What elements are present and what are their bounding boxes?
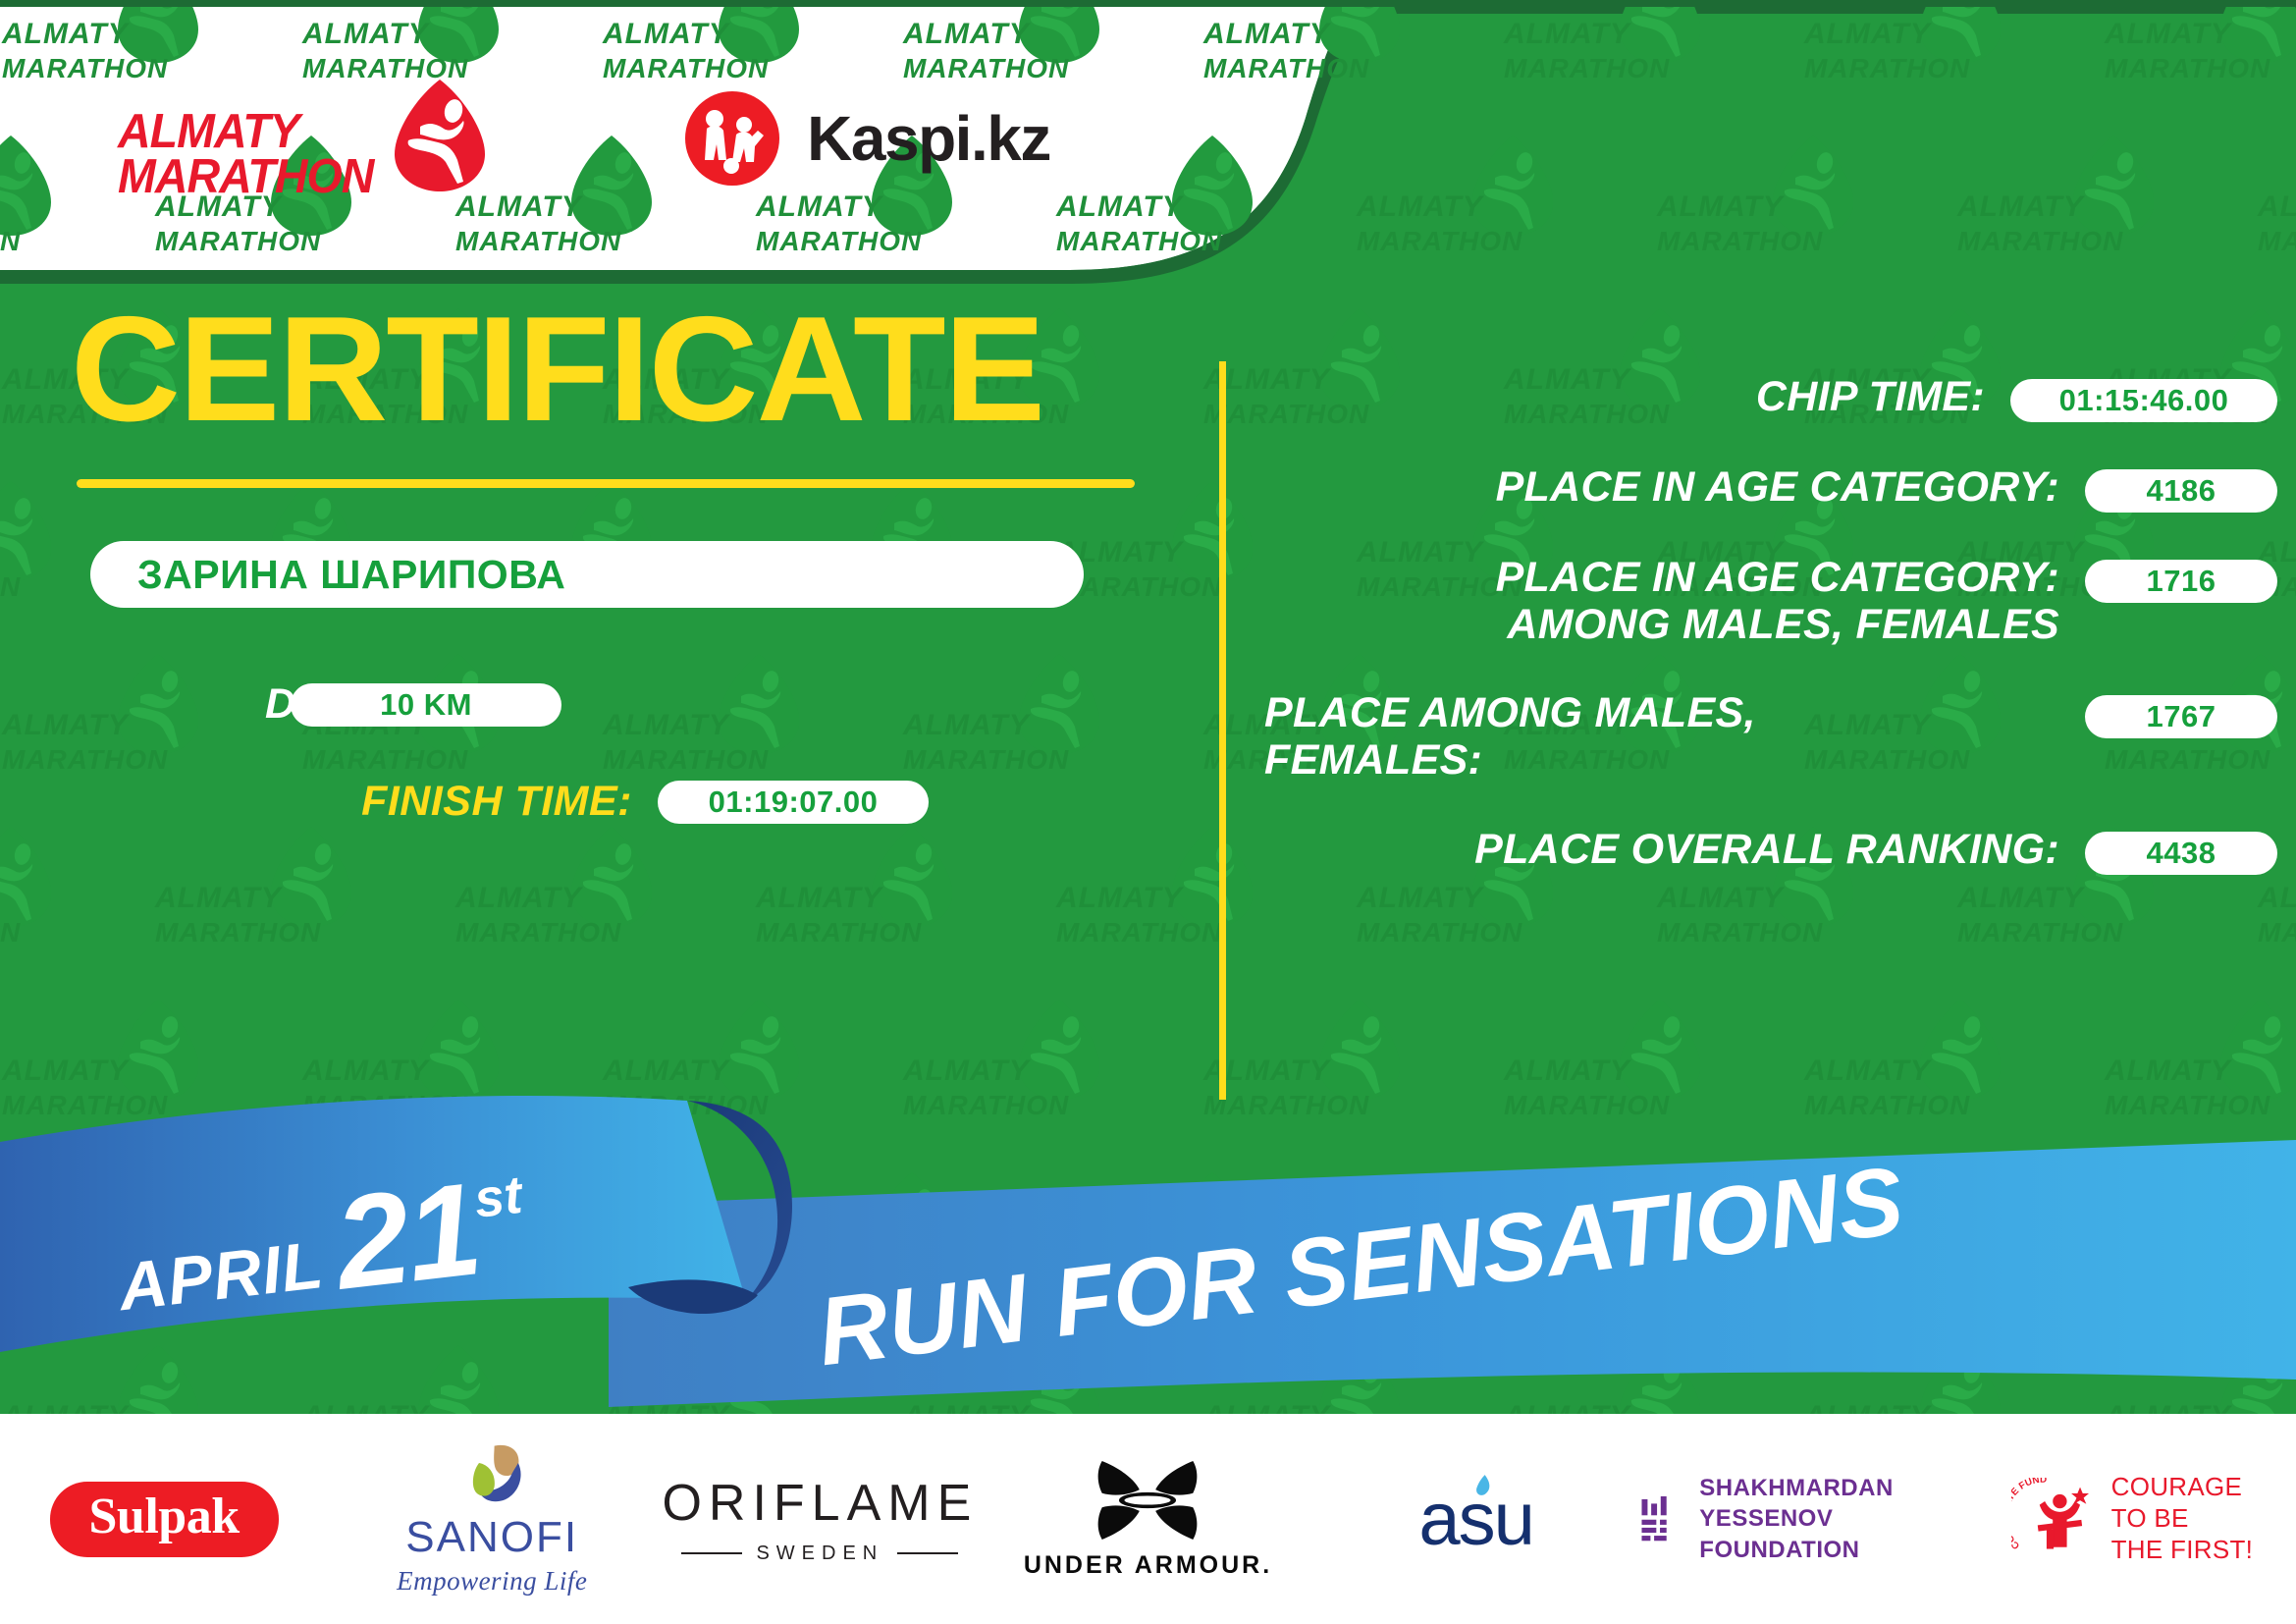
yessenov-line1: SHAKHMARDAN YESSENOV bbox=[1699, 1473, 1968, 1534]
sulpak-logo: Sulpak bbox=[50, 1482, 279, 1557]
running-person-drop-icon bbox=[393, 78, 487, 193]
asu-logo: asu bbox=[1418, 1477, 1533, 1562]
under-armour-wordmark: UNDER ARMOUR. bbox=[1024, 1551, 1272, 1580]
oriflame-rule-left bbox=[681, 1552, 742, 1554]
header: ALMATY MARATHON bbox=[0, 7, 1276, 270]
result-value: 1716 bbox=[2147, 564, 2216, 599]
almaty-marathon-line2: MARATHON bbox=[118, 154, 373, 199]
result-row: PLACE IN AGE CATEGORY:4186 bbox=[1256, 463, 2277, 513]
title-divider bbox=[77, 479, 1135, 488]
result-label-line: AMONG MALES, FEMALES bbox=[1256, 601, 2059, 648]
sponsor-sulpak: Sulpak bbox=[0, 1414, 328, 1624]
sponsor-strip: Sulpak SANOFI Empowering Life ORIFLAME S… bbox=[0, 1414, 2296, 1624]
result-label-line: FEMALES: bbox=[1264, 736, 2059, 784]
result-label: PLACE OVERALL RANKING: bbox=[1256, 826, 2085, 873]
finish-time-value-pill: 01:19:07.00 bbox=[658, 781, 929, 824]
courage-arc-text: CORPORATE FUND bbox=[2011, 1478, 2047, 1551]
result-label-line: CHIP TIME: bbox=[1256, 373, 1985, 420]
sanofi-logo: SANOFI Empowering Life bbox=[397, 1442, 587, 1597]
result-label: PLACE AMONG MALES,FEMALES: bbox=[1256, 689, 2085, 784]
result-value: 4438 bbox=[2147, 836, 2216, 871]
result-value-pill: 01:15:46.00 bbox=[2010, 379, 2277, 422]
yessenov-bars-icon bbox=[1640, 1490, 1679, 1547]
certificate-canvas: ALMATYMARATHONALMATYMARATHONALMATYMARATH… bbox=[0, 0, 2296, 1624]
result-label: PLACE IN AGE CATEGORY: bbox=[1256, 463, 2085, 511]
finish-time-row: FINISH TIME: 01:19:07.00 bbox=[265, 778, 1158, 826]
asu-droplet-icon bbox=[1473, 1473, 1493, 1498]
oriflame-rule-right bbox=[897, 1552, 958, 1554]
result-value: 4186 bbox=[2147, 473, 2216, 509]
courage-line2: TO BE bbox=[2111, 1503, 2254, 1535]
kaspi-wordmark: Kaspi.kz bbox=[807, 102, 1050, 175]
event-month: APRIL bbox=[115, 1226, 327, 1326]
almaty-marathon-line1: ALMATY bbox=[118, 109, 373, 154]
sponsor-courage-to-be-the-first: CORPORATE FUND COURAGE TO BE THE FIRST! bbox=[1968, 1414, 2296, 1624]
distance-value-pill: 10 KM bbox=[291, 683, 561, 727]
event-day: 21 bbox=[329, 1164, 485, 1311]
finish-time-value: 01:19:07.00 bbox=[709, 785, 879, 820]
courage-fund-logo: CORPORATE FUND COURAGE TO BE THE FIRST! bbox=[2011, 1472, 2254, 1565]
result-label-line: PLACE IN AGE CATEGORY: bbox=[1256, 554, 2059, 601]
vertical-yellow-divider bbox=[1219, 361, 1226, 1100]
svg-text:CORPORATE FUND: CORPORATE FUND bbox=[2011, 1478, 2047, 1551]
sanofi-mark-icon bbox=[454, 1442, 530, 1509]
result-row: PLACE OVERALL RANKING:4438 bbox=[1256, 826, 2277, 875]
results-column: CHIP TIME:01:15:46.00PLACE IN AGE CATEGO… bbox=[1256, 373, 2277, 916]
page-title: CERTIFICATE bbox=[71, 295, 1180, 444]
result-row: CHIP TIME:01:15:46.00 bbox=[1256, 373, 2277, 422]
under-armour-logo: UNDER ARMOUR. bbox=[1024, 1459, 1272, 1580]
sanofi-wordmark: SANOFI bbox=[405, 1513, 578, 1562]
participant-name-field: ЗАРИНА ШАРИПОВА bbox=[90, 541, 1084, 608]
sponsor-oriflame: ORIFLAME SWEDEN bbox=[656, 1414, 984, 1624]
sponsor-shakhmardan-yessenov-foundation: SHAKHMARDAN YESSENOV FOUNDATION bbox=[1640, 1414, 1968, 1624]
shakhmardan-yessenov-logo: SHAKHMARDAN YESSENOV FOUNDATION bbox=[1640, 1473, 1968, 1565]
oriflame-logo: ORIFLAME SWEDEN bbox=[662, 1474, 978, 1565]
kaspi-people-circle-icon bbox=[683, 89, 781, 188]
courage-child-star-icon: CORPORATE FUND bbox=[2011, 1478, 2098, 1560]
kaspi-logo: Kaspi.kz bbox=[683, 89, 1050, 188]
sanofi-tagline: Empowering Life bbox=[397, 1566, 587, 1597]
result-value: 01:15:46.00 bbox=[2059, 383, 2229, 418]
result-value-pill: 1716 bbox=[2085, 560, 2277, 603]
result-label: PLACE IN AGE CATEGORY:AMONG MALES, FEMAL… bbox=[1256, 554, 2085, 648]
under-armour-mark-icon bbox=[1090, 1459, 1205, 1542]
distance-row: DISTANCE: 10 KM bbox=[265, 680, 1158, 729]
result-value-pill: 1767 bbox=[2085, 695, 2277, 738]
result-label-line: PLACE OVERALL RANKING: bbox=[1256, 826, 2059, 873]
event-day-ordinal: st bbox=[471, 1164, 525, 1230]
top-green-rule bbox=[0, 0, 2296, 7]
distance-value: 10 KM bbox=[380, 687, 472, 723]
left-column: CERTIFICATE ЗАРИНА ШАРИПОВА DISTANCE: 10… bbox=[0, 295, 1158, 826]
finish-time-label: FINISH TIME: bbox=[265, 778, 632, 826]
result-row: PLACE IN AGE CATEGORY:AMONG MALES, FEMAL… bbox=[1256, 554, 2277, 648]
result-label-line: PLACE AMONG MALES, bbox=[1264, 689, 2059, 736]
result-value: 1767 bbox=[2147, 699, 2216, 734]
courage-line3: THE FIRST! bbox=[2111, 1535, 2254, 1566]
blue-ribbon-banner: APRIL 21 st RUN FOR SENSATIONS bbox=[0, 1095, 2296, 1419]
participant-name-value: ЗАРИНА ШАРИПОВА bbox=[137, 552, 565, 598]
yessenov-line2: FOUNDATION bbox=[1699, 1535, 1968, 1565]
result-label: CHIP TIME: bbox=[1256, 373, 2010, 420]
almaty-marathon-logo: ALMATY MARATHON bbox=[118, 78, 487, 199]
oriflame-subtitle: SWEDEN bbox=[756, 1543, 883, 1565]
courage-line1: COURAGE bbox=[2111, 1472, 2254, 1503]
sponsor-under-armour: UNDER ARMOUR. bbox=[984, 1414, 1311, 1624]
result-value-pill: 4438 bbox=[2085, 832, 2277, 875]
result-label-line: PLACE IN AGE CATEGORY: bbox=[1256, 463, 2059, 511]
result-value-pill: 4186 bbox=[2085, 469, 2277, 513]
sponsor-asu: asu bbox=[1312, 1414, 1640, 1624]
sponsor-sanofi: SANOFI Empowering Life bbox=[328, 1414, 656, 1624]
result-row: PLACE AMONG MALES,FEMALES:1767 bbox=[1256, 689, 2277, 784]
oriflame-wordmark: ORIFLAME bbox=[662, 1474, 978, 1533]
